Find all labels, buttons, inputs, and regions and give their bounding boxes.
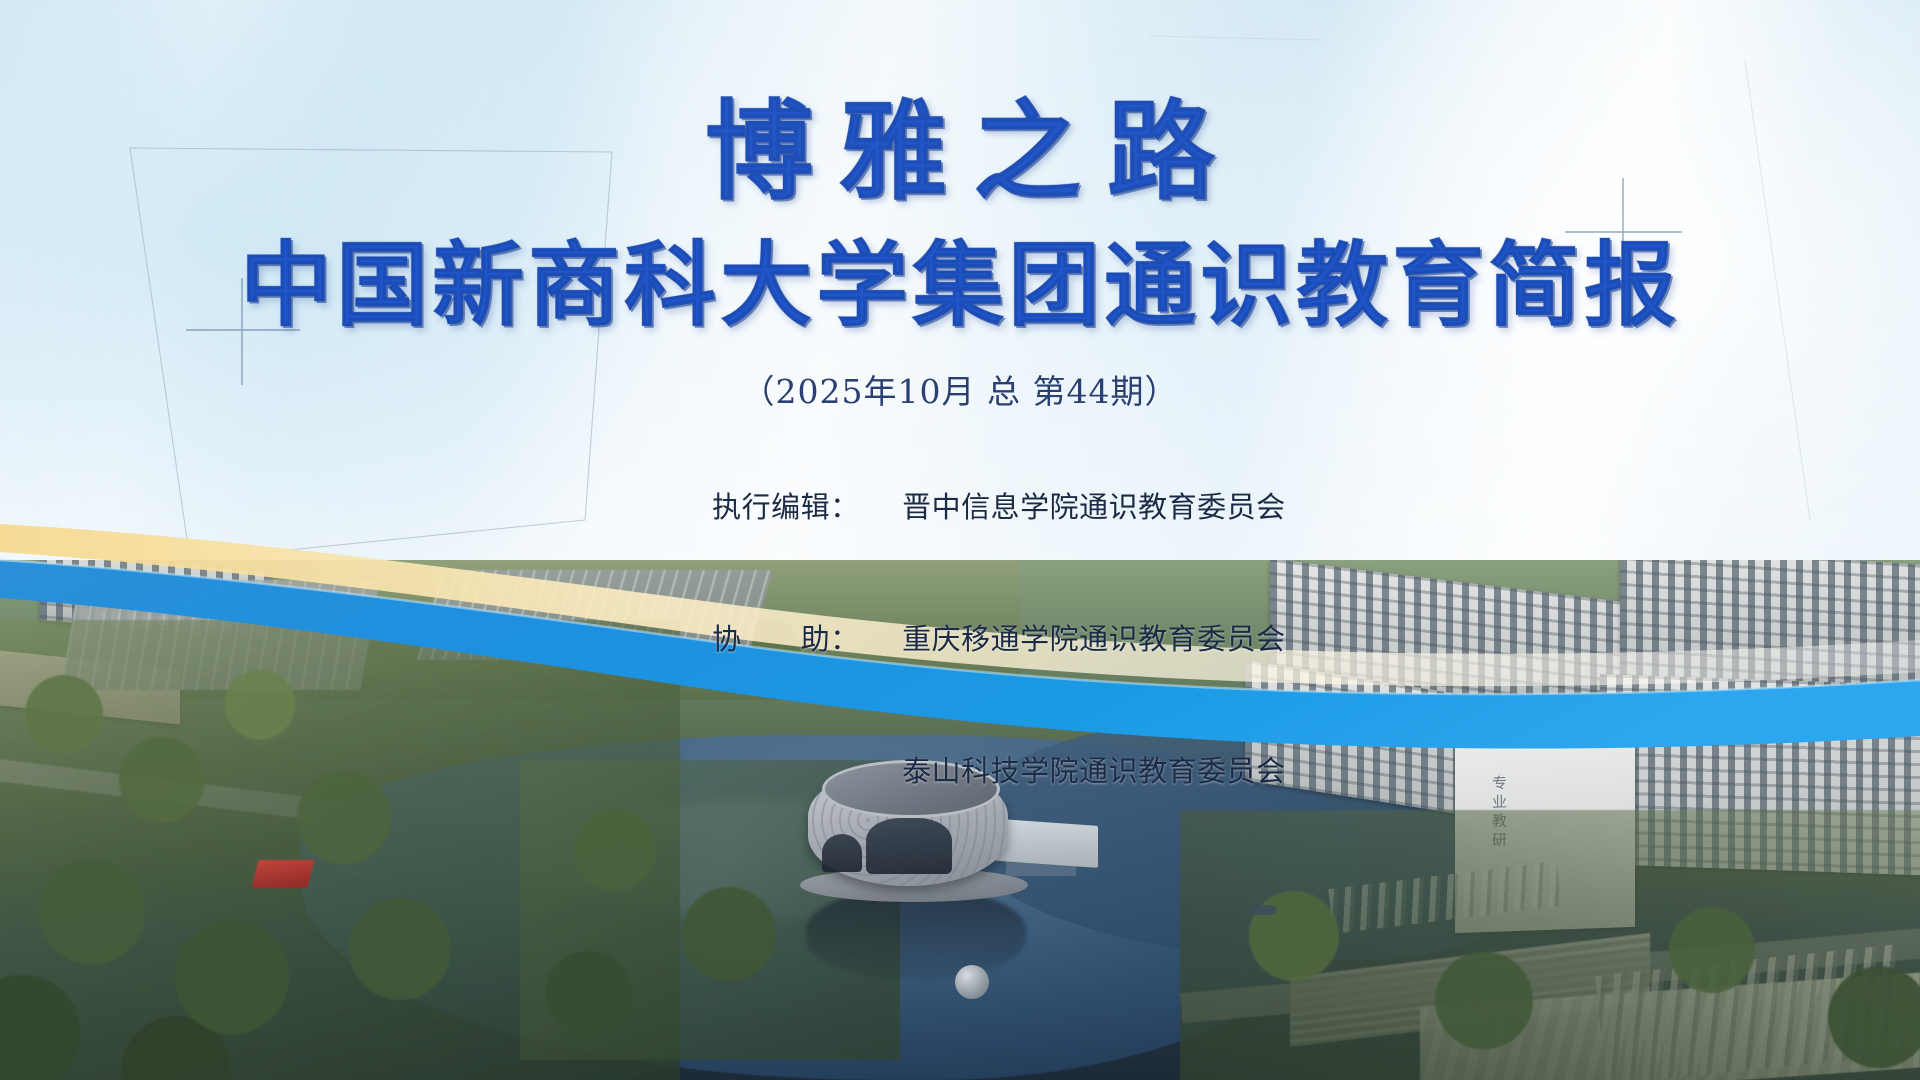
credit-value: 泰山科技学院通识教育委员会 [902,749,1286,793]
page-title: 中国新商科大学集团通识教育简报 [0,209,1920,336]
issue-date-line: （2025年10月 总 第44期） [0,337,1920,413]
credits-block: 执行编辑：晋中信息学院通识教育委员会 协 助：重庆移通学院通识教育委员会 泰山科… [634,441,1285,838]
oval-building-archway [822,834,862,872]
tree-cluster-right [1180,810,1920,1080]
sculpture-sphere [955,965,989,999]
credit-label: 执行编辑： [712,485,902,529]
credit-value: 晋中信息学院通识教育委员会 [902,485,1286,529]
series-title: 博雅之路 [0,0,1920,209]
newsletter-cover-page: 专业教研 [0,0,1920,1080]
credit-label: 协 助： [712,617,902,661]
credit-row: 执行编辑：晋中信息学院通识教育委员会 [634,441,1285,573]
red-vehicle [252,860,315,888]
credit-row: 协 助：重庆移通学院通识教育委员会 [634,573,1285,705]
credit-row: 泰山科技学院通识教育委员会 [634,705,1285,837]
cover-text-block: 博雅之路 中国新商科大学集团通识教育简报 （2025年10月 总 第44期） 执… [0,0,1920,837]
credit-value: 重庆移通学院通识教育委员会 [902,617,1286,661]
boat-on-lake [1250,905,1276,915]
